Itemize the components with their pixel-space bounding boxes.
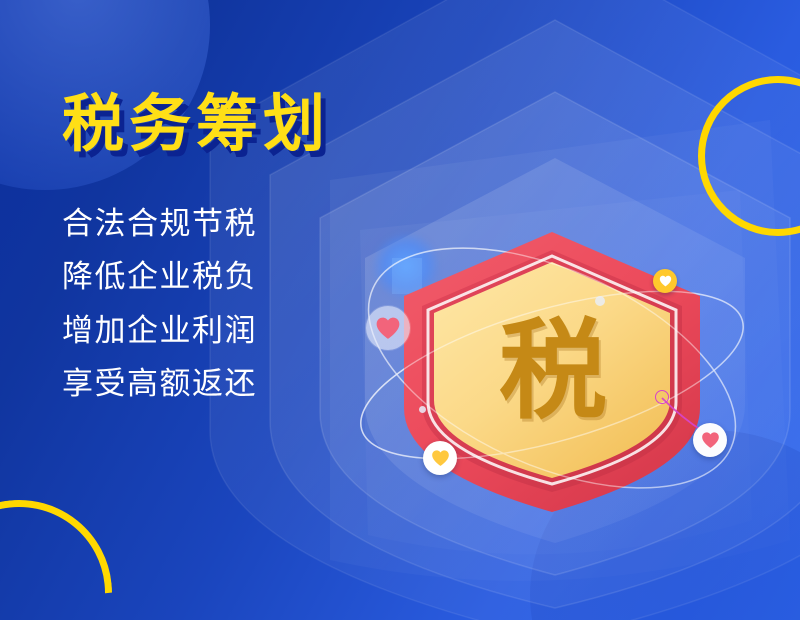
heart-icon <box>701 431 720 449</box>
benefit-item-2: 降低企业税负 <box>62 250 330 303</box>
copy-block: 税务筹划 合法合规节税 降低企业税负 增加企业利润 享受高额返还 <box>62 92 330 410</box>
blue-glow-square <box>392 258 422 294</box>
benefit-item-3: 增加企业利润 <box>62 304 330 357</box>
tax-planning-banner: 税 税务筹划 合法合规节税 降低企业税负 增加企业利润 享受高额返还 <box>0 0 800 620</box>
page-title: 税务筹划 <box>62 92 330 159</box>
heart-node-bottom-right <box>693 423 727 457</box>
benefit-item-1: 合法合规节税 <box>62 197 330 250</box>
heart-icon <box>431 449 450 467</box>
benefit-list: 合法合规节税 降低企业税负 增加企业利润 享受高额返还 <box>62 197 330 410</box>
heart-node-bottom-left <box>423 441 457 475</box>
yellow-arc-decor <box>0 491 121 620</box>
heart-node-top-right <box>653 269 677 293</box>
orbit-dot-left <box>419 406 426 413</box>
shield-character: 税 <box>478 300 628 424</box>
yellow-ring-decor <box>698 76 800 236</box>
orbit-dot-right <box>595 296 605 306</box>
heart-icon <box>375 316 401 340</box>
heart-node-left-light <box>366 306 410 350</box>
magenta-ring-dot <box>655 390 669 404</box>
benefit-item-4: 享受高额返还 <box>62 357 330 410</box>
heart-icon <box>659 275 672 287</box>
blue-blob-bottom-right <box>530 430 800 620</box>
